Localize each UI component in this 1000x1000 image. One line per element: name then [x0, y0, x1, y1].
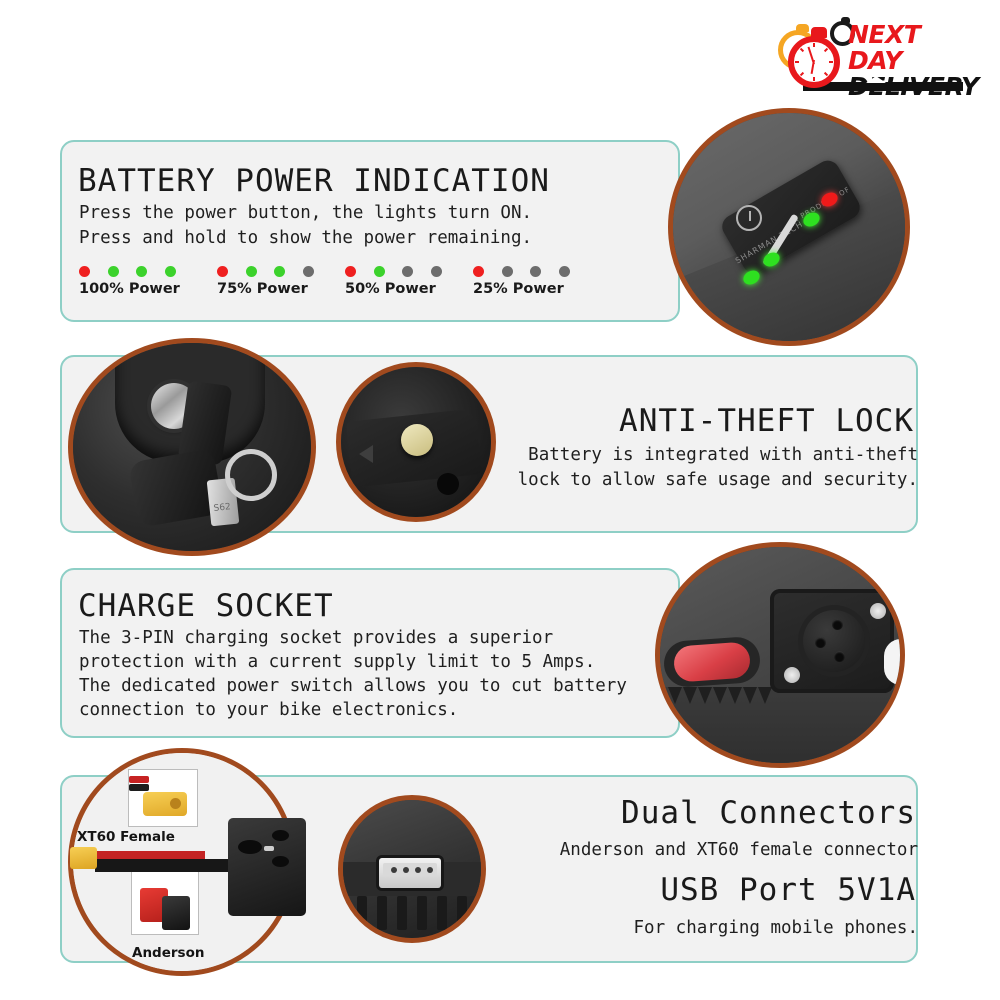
led-indicator	[108, 266, 119, 277]
power-button-icon	[736, 205, 762, 231]
led-indicator	[559, 266, 570, 277]
battery-power-line-2: Press and hold to show the power remaini…	[79, 228, 532, 248]
led-indicator	[402, 266, 413, 277]
battery-led-panel-photo: SHARMAN TECH A PRODUCT OF	[668, 108, 910, 346]
xlr-3pin-socket	[798, 605, 870, 677]
power-level-label: 25% Power	[473, 281, 578, 297]
anti-theft-lock-title: ANTI-THEFT LOCK	[619, 403, 914, 439]
led-indicator	[79, 266, 90, 277]
power-level-label: 50% Power	[345, 281, 450, 297]
dual-connectors-title: Dual Connectors	[621, 795, 916, 831]
xt60-connector-tip	[70, 847, 97, 869]
usb-port-photo	[338, 795, 486, 943]
power-level-label: 75% Power	[217, 281, 322, 297]
screw-icon	[870, 603, 886, 619]
anderson-inset-image	[131, 871, 199, 935]
led-indicator	[136, 266, 147, 277]
cable-red-wire	[95, 851, 205, 859]
led-indicator	[246, 266, 257, 277]
led-indicator	[473, 266, 484, 277]
dual-connectors-line-1: Anderson and XT60 female connector	[560, 840, 918, 860]
usb-port-line-1: For charging mobile phones.	[634, 918, 918, 938]
led-indicator	[431, 266, 442, 277]
key-lock-photo	[68, 338, 316, 556]
charge-socket-line-2: protection with a current supply limit t…	[79, 652, 595, 672]
led-indicator	[217, 266, 228, 277]
mounting-hole	[437, 473, 459, 495]
usb-port-title: USB Port 5V1A	[660, 872, 916, 908]
led-row	[217, 261, 322, 273]
xt60-female-label: XT60 Female	[77, 829, 175, 845]
led-indicator	[374, 266, 385, 277]
xt60-inset-image	[128, 769, 198, 827]
charge-socket-line-1: The 3-PIN charging socket provides a sup…	[79, 628, 553, 648]
charge-socket-photo	[655, 542, 905, 768]
heat-fins	[668, 687, 778, 705]
led-indicator	[502, 266, 513, 277]
led-indicator	[530, 266, 541, 277]
led-indicator	[274, 266, 285, 277]
stopwatch-red-icon	[788, 36, 840, 88]
anderson-label: Anderson	[132, 945, 204, 961]
battery-power-line-1: Press the power button, the lights turn …	[79, 203, 532, 223]
battery-connector-block	[228, 818, 306, 916]
led-row	[345, 261, 450, 273]
charge-socket-line-3: The dedicated power switch allows you to…	[79, 676, 627, 696]
cable-black-sheath	[95, 859, 247, 872]
screw-icon	[784, 667, 800, 683]
power-level-25: 25% Power	[473, 261, 578, 297]
battery-power-title: BATTERY POWER INDICATION	[78, 163, 550, 199]
charge-socket-title: CHARGE SOCKET	[78, 588, 334, 624]
led-row	[79, 261, 184, 273]
heat-fins	[357, 896, 477, 930]
logo-line-next-day: NEXT DAY	[848, 22, 976, 74]
led-indicator	[165, 266, 176, 277]
power-level-50: 50% Power	[345, 261, 450, 297]
power-switch-red	[673, 641, 751, 682]
power-level-label: 100% Power	[79, 281, 184, 297]
power-level-100: 100% Power	[79, 261, 184, 297]
anti-theft-lock-line-2: lock to allow safe usage and security.	[518, 470, 918, 490]
usb-port-connector	[379, 858, 441, 888]
gold-button	[401, 424, 433, 456]
anti-theft-lock-line-1: Battery is integrated with anti-theft	[528, 445, 918, 465]
anti-theft-button-photo	[336, 362, 496, 522]
socket-plate	[770, 589, 894, 693]
next-day-delivery-logo: NEXT DAY DELIVERY	[768, 16, 972, 94]
power-level-75: 75% Power	[217, 261, 322, 297]
led-row	[473, 261, 578, 273]
charge-socket-line-4: connection to your bike electronics.	[79, 700, 458, 720]
key-ring	[225, 449, 277, 501]
led-indicator	[303, 266, 314, 277]
led-indicator	[345, 266, 356, 277]
